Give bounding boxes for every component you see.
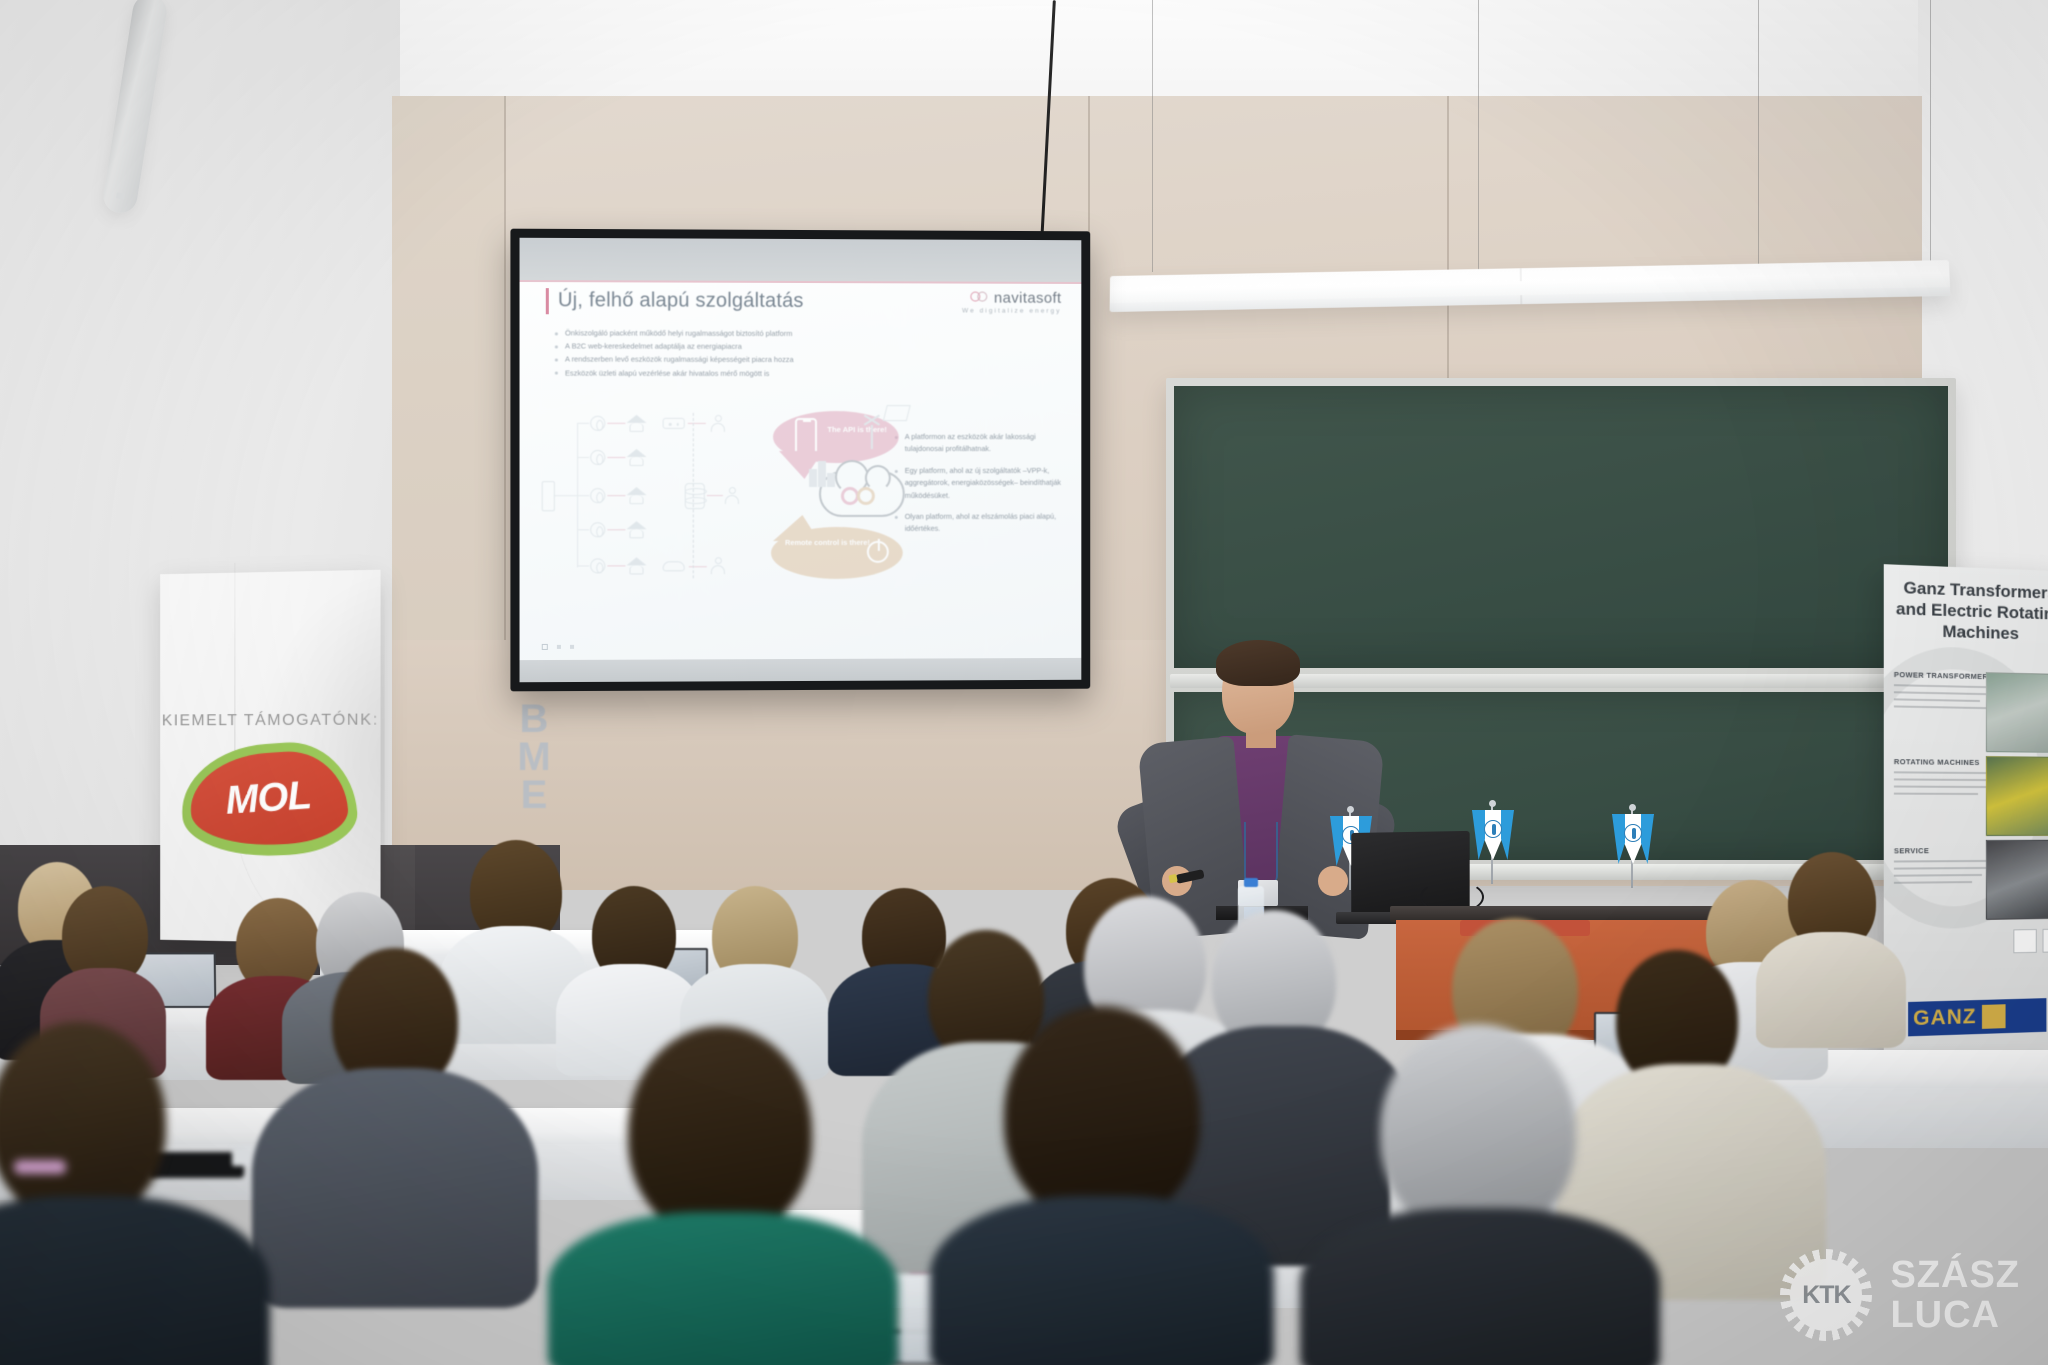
meter-icon	[590, 522, 605, 537]
ganz-banner: Ganz Transformers and Electric Rotating …	[1884, 564, 2048, 1082]
navitasoft-tagline: We digitalize energy	[962, 307, 1062, 314]
slide-bullet: A B2C web-kereskedelmet adaptálja az ene…	[552, 340, 883, 354]
ganz-section-heading: ROTATING MACHINES	[1894, 757, 1980, 767]
building-icon	[542, 481, 555, 511]
slide-right-bullet: Olyan platform, ahol az elszámolás piaci…	[893, 511, 1070, 536]
slide-page-markers	[542, 644, 574, 650]
api-callout-bubble: The API is there!	[773, 411, 899, 463]
title-accent-bar	[546, 288, 549, 314]
mol-sponsor-banner: KIEMELT TÁMOGATÓNK: MOL	[160, 570, 380, 945]
speaker-hair	[1216, 640, 1300, 686]
remote-callout-text: Remote control is there!	[785, 538, 870, 549]
lamp-cable	[1930, 0, 1931, 282]
chalkboard-upper-panel	[1174, 386, 1948, 668]
ganz-photo	[1986, 672, 2048, 753]
ganz-logo: GANZ	[1908, 998, 2046, 1036]
wind-turbine-icon	[871, 425, 873, 449]
slide-right-bullet: A platformon az eszközök akár lakossági …	[893, 431, 1070, 456]
meter-icon	[590, 450, 605, 465]
photographer-watermark: KTK SZÁSZ LUCA	[1780, 1249, 2020, 1341]
projection-screen: Új, felhő alapú szolgáltatás navitasoft …	[510, 229, 1090, 692]
solar-panel-icon	[883, 405, 911, 421]
api-callout-text: The API is there!	[827, 424, 886, 435]
bme-wall-letters: B M E	[506, 700, 562, 814]
bme-letter-b: B	[506, 700, 562, 738]
phone-icon	[795, 418, 817, 456]
slide-bullet: Önkiszolgáló piacként működő helyi rugal…	[552, 326, 883, 340]
watermark-name: SZÁSZ LUCA	[1890, 1255, 2020, 1335]
meter-icon	[590, 558, 605, 573]
ganz-section-heading: SERVICE	[1894, 846, 1929, 855]
lamp-cable	[1152, 0, 1153, 272]
speaker-lanyard	[1244, 822, 1278, 882]
slide-bullet-list: Önkiszolgáló piacként működő helyi rugal…	[552, 326, 883, 380]
infinity-icon	[970, 292, 990, 302]
house-icon	[626, 487, 646, 504]
person-icon	[711, 415, 725, 432]
watermark-firstname: LUCA	[1890, 1295, 2020, 1335]
table-flag	[1472, 800, 1514, 884]
house-icon	[626, 449, 646, 466]
meter-icon	[590, 416, 605, 431]
mol-logo: MOL	[182, 744, 357, 857]
qr-code-icons	[2013, 929, 2048, 954]
ganz-title: Ganz Transformers and Electric Rotating …	[1890, 577, 2048, 646]
slide-bullet: A rendszerben levő eszközök rugalmassági…	[552, 353, 883, 367]
ganz-photo	[1986, 840, 2048, 920]
ktk-mark: KTK	[1780, 1281, 1872, 1310]
device-icon	[663, 418, 685, 429]
house-icon	[626, 415, 646, 432]
person-icon	[725, 487, 739, 504]
car-icon	[663, 561, 685, 571]
lamp-cable	[1478, 0, 1479, 274]
lamp-cable	[1758, 0, 1759, 278]
presentation-slide: Új, felhő alapú szolgáltatás navitasoft …	[520, 280, 1082, 660]
slide-diagram: The API is there! Remote control is ther…	[542, 409, 913, 585]
meter-icon	[590, 488, 605, 503]
slide-bullet: Eszközök üzleti alapú vezérlése akár hiv…	[552, 366, 883, 380]
person-icon	[711, 557, 725, 574]
database-icon	[685, 483, 705, 509]
wall-seam	[1447, 96, 1449, 396]
bme-letter-e: E	[506, 776, 562, 814]
power-icon	[867, 541, 889, 563]
house-icon	[626, 557, 646, 574]
bme-letter-m: M	[506, 738, 562, 776]
mol-caption: KIEMELT TÁMOGATÓNK:	[160, 711, 380, 730]
slide-right-bullet: Egy platform, ahol az új szolgáltatók –V…	[893, 465, 1070, 502]
slide-title: Új, felhő alapú szolgáltatás	[558, 289, 804, 313]
ktk-gear-icon: KTK	[1780, 1249, 1872, 1341]
house-icon	[626, 521, 646, 538]
ganz-wordmark: GANZ	[1913, 1005, 1976, 1031]
watermark-surname: SZÁSZ	[1890, 1255, 2020, 1295]
table-flag	[1612, 804, 1654, 888]
city-icon	[809, 461, 835, 487]
cloud-infinity-mark	[841, 487, 881, 505]
lecture-hall-photo: B M E Új, felhő alapú szolgáltatás navit…	[0, 0, 2048, 1365]
ganz-mark-icon	[1981, 1004, 2005, 1029]
navitasoft-wordmark: navitasoft	[962, 290, 1062, 307]
remote-callout-bubble: Remote control is there!	[771, 527, 903, 579]
navitasoft-logo: navitasoft We digitalize energy	[962, 290, 1062, 315]
slide-right-bullet-list: A platformon az eszközök akár lakossági …	[893, 431, 1070, 545]
ganz-photo	[1986, 756, 2048, 836]
